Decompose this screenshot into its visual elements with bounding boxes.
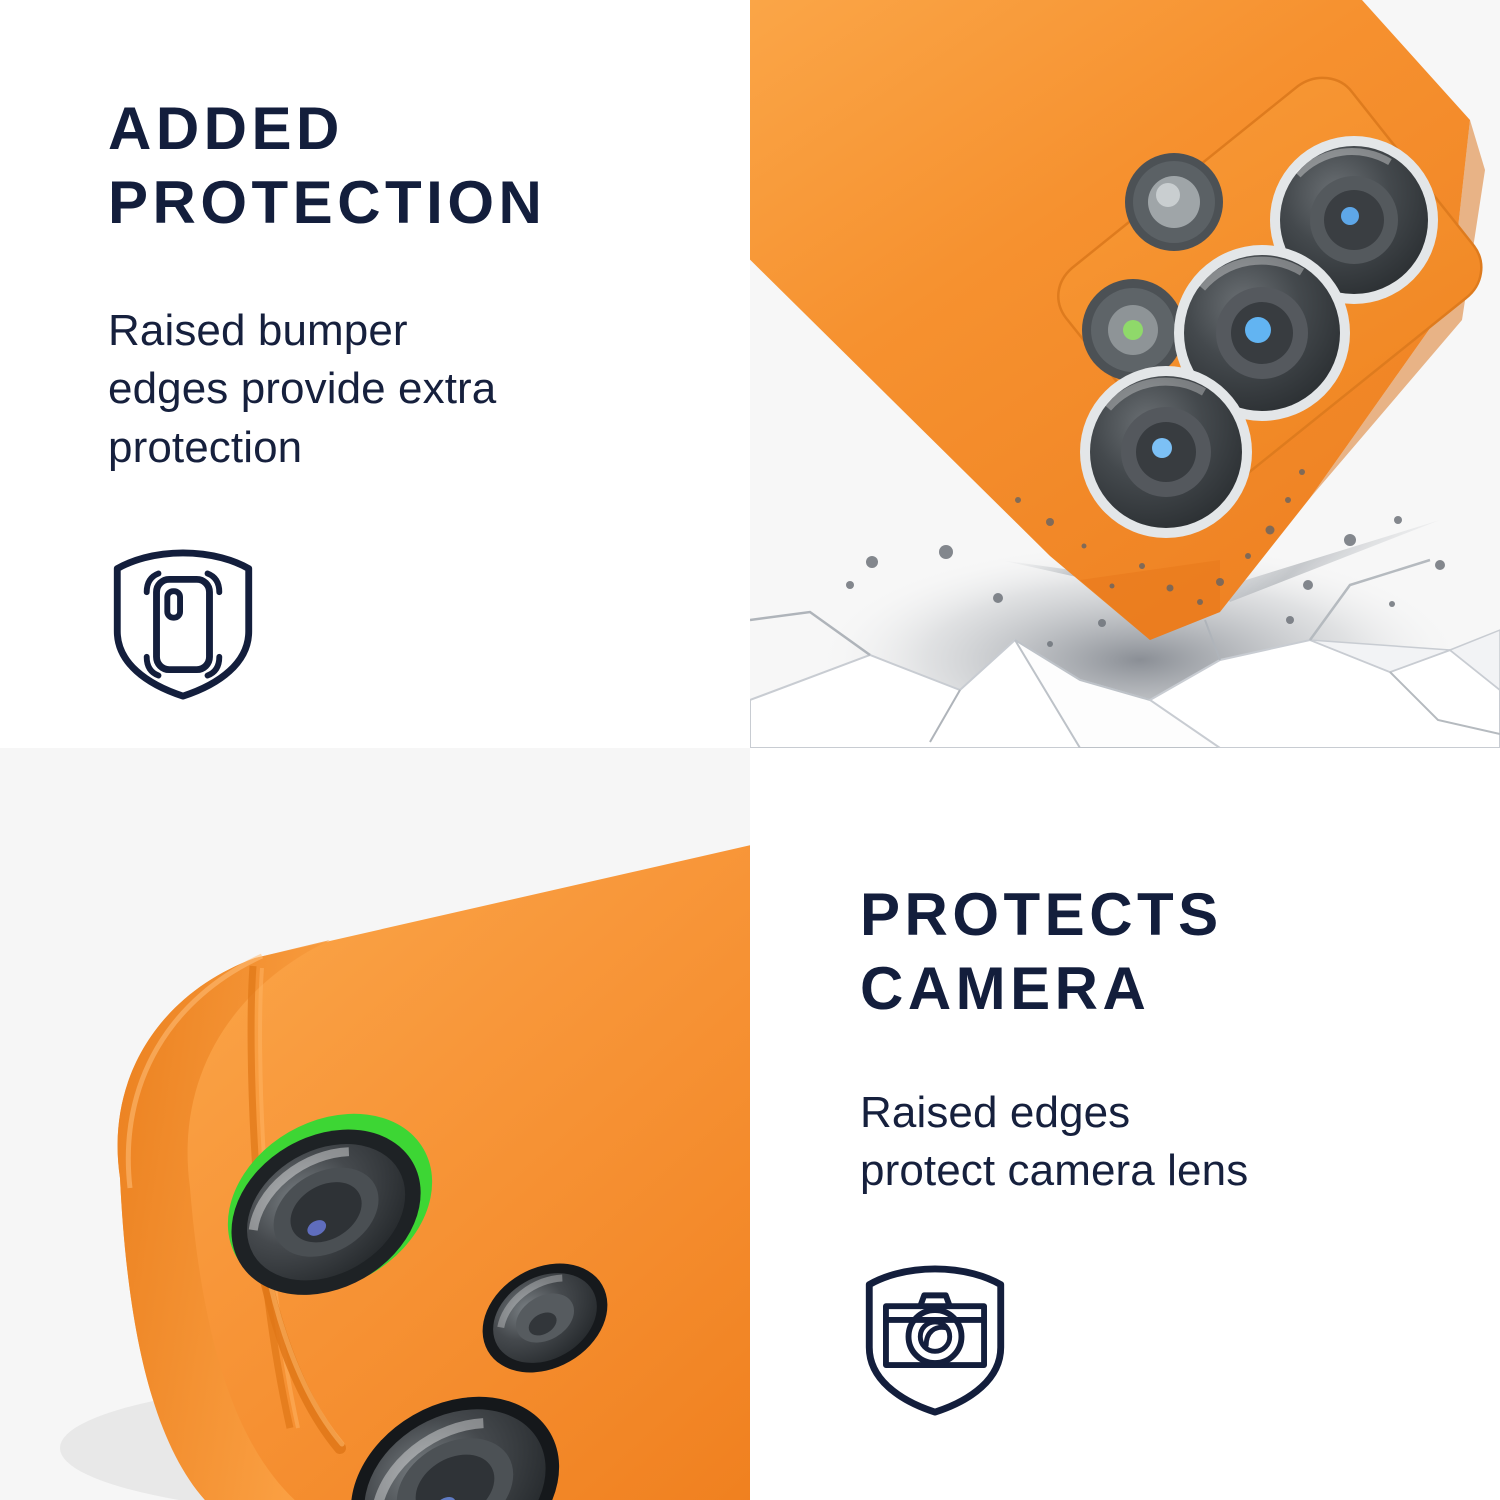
lens-flash-small	[1125, 153, 1223, 251]
lens-sensor-small	[1082, 279, 1184, 381]
added-protection-subcopy: Raised bumper edges provide extra protec…	[108, 302, 668, 478]
product-feature-infographic: ADDED PROTECTION Raised bumper edges pro…	[0, 0, 1500, 1500]
shield-camera-icon	[860, 1263, 1010, 1418]
impact-photo	[750, 0, 1500, 748]
panel-added-protection: ADDED PROTECTION Raised bumper edges pro…	[0, 0, 750, 748]
panel-protects-camera: PROTECTS CAMERA Raised edges protect cam…	[750, 748, 1500, 1500]
panel-impact-photo	[750, 0, 1500, 748]
lens-main-bottom	[1080, 366, 1252, 538]
protects-camera-headline: PROTECTS CAMERA	[860, 878, 1440, 1026]
camera-closeup-photo	[0, 748, 750, 1500]
shield-phone-icon	[108, 547, 258, 702]
panel-camera-closeup-photo	[0, 748, 750, 1500]
added-protection-headline: ADDED PROTECTION	[108, 92, 680, 240]
protects-camera-subcopy: Raised edges protect camera lens	[860, 1084, 1440, 1201]
